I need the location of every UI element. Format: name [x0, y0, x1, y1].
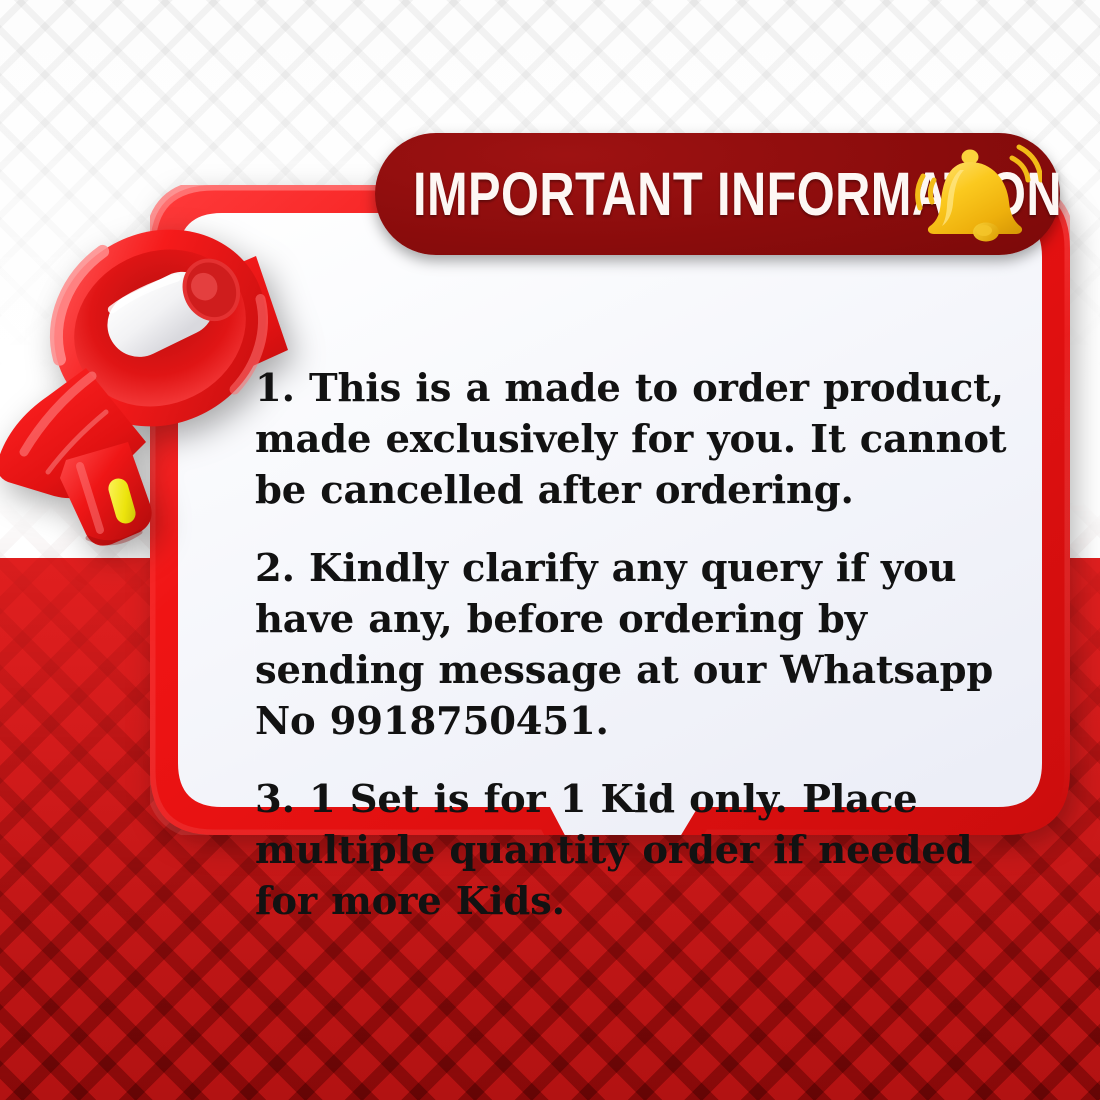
- bell-icon: [912, 136, 1042, 254]
- list-item: 3. 1 Set is for 1 Kid only. Place multip…: [255, 774, 1010, 927]
- header-banner: IMPORTANT INFORMATION: [375, 133, 1060, 255]
- list-item: 1. This is a made to order product, made…: [255, 363, 1010, 516]
- poster-canvas: IMPORTANT INFORMATION: [0, 0, 1100, 1100]
- information-list: 1. This is a made to order product, made…: [255, 363, 1010, 927]
- list-item: 2. Kindly clarify any query if you have …: [255, 543, 1010, 747]
